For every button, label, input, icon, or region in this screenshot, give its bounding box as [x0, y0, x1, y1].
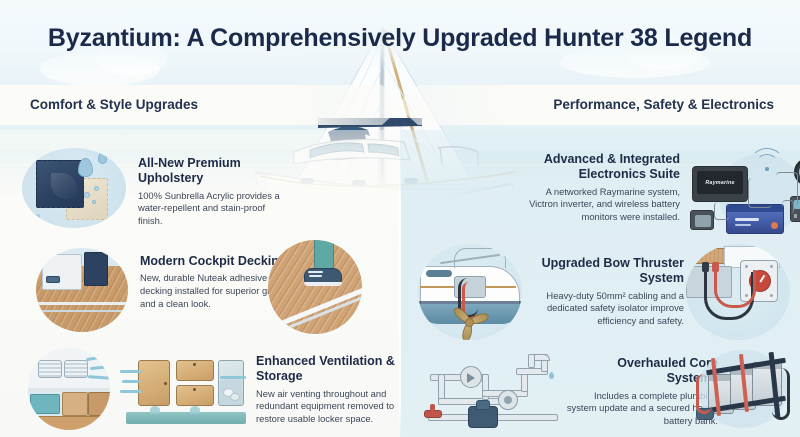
electronics-network-icon: Raymarine	[690, 150, 800, 242]
mfd-brand-label: Raymarine	[705, 180, 734, 186]
teak-deck-icon	[36, 248, 128, 332]
feature-body: A networked Raymarine system, Victron in…	[528, 186, 680, 225]
shoe-on-deck-icon	[268, 240, 362, 334]
cabin-vent-grille-icon	[28, 348, 110, 430]
feature-electronics: Advanced & Integrated Electronics Suite …	[528, 150, 800, 242]
feature-bow-thruster: Upgraded Bow Thruster System Heavy-duty …	[532, 256, 694, 328]
feature-title: All-New Premium Upholstery	[138, 156, 290, 187]
plumbing-manifold-icon	[420, 350, 566, 432]
bow-thruster-hull-icon	[418, 244, 522, 340]
house-battery-bank-icon	[688, 346, 796, 434]
feature-title: Advanced & Integrated Electronics Suite	[528, 152, 680, 183]
locker-airflow-icon	[120, 352, 248, 424]
feature-body: 100% Sunbrella Acrylic provides a water-…	[138, 190, 290, 229]
feature-body: Heavy-duty 50mm² cabling and a dedicated…	[532, 290, 684, 329]
feature-title: Upgraded Bow Thruster System	[532, 256, 684, 287]
safety-isolator-switch-icon	[686, 244, 790, 340]
left-section-header: Comfort & Style Upgrades	[30, 85, 198, 125]
feature-upholstery: All-New Premium Upholstery 100% Sunbrell…	[22, 148, 290, 228]
fabric-swatch-water-drop-icon	[22, 148, 126, 228]
page-title: Byzantium: A Comprehensively Upgraded Hu…	[0, 24, 800, 53]
feature-title: Enhanced Ventilation & Storage	[256, 354, 408, 385]
feature-body: New air venting throughout and redundant…	[256, 388, 408, 427]
feature-ventilation: Enhanced Ventilation & Storage New air v…	[120, 352, 408, 426]
infographic-poster: Byzantium: A Comprehensively Upgraded Hu…	[0, 0, 800, 437]
feature-decking: Modern Cockpit Decking New, durable Nute…	[36, 248, 292, 332]
right-section-header: Performance, Safety & Electronics	[553, 85, 774, 125]
